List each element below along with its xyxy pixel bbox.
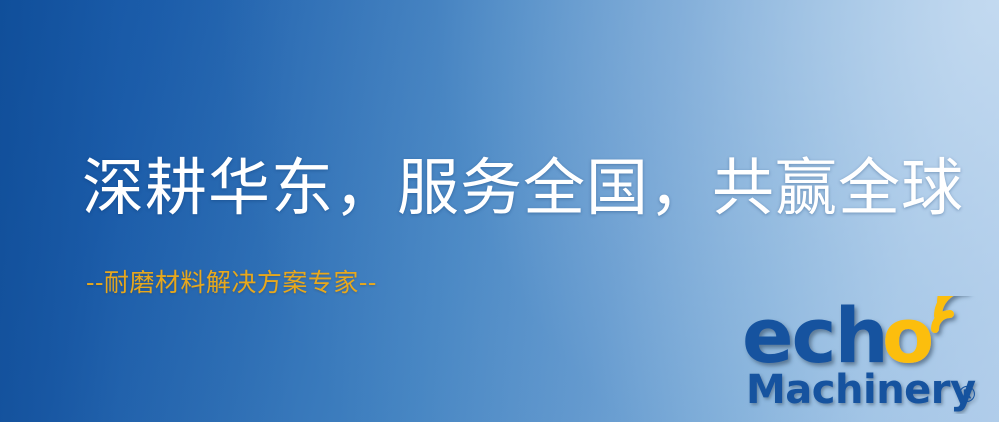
signal-waves-icon [935,296,980,329]
banner-subtitle: --耐磨材料解决方案专家-- [86,268,377,298]
logo-brandline: Machinery ® [746,366,992,414]
logo-registered-mark: ® [956,383,978,408]
logo-wordmark: ech o [742,296,992,374]
logo-text-o: o [882,296,932,374]
logo-text-ech: ech [742,296,887,374]
banner-headline: 深耕华东，服务全国，共赢全球 [82,152,964,224]
hero-banner: 深耕华东，服务全国，共赢全球 --耐磨材料解决方案专家-- ech o [0,0,999,422]
logo-text-machinery: Machinery [746,367,976,413]
company-logo: ech o Machinery ® [742,296,992,416]
